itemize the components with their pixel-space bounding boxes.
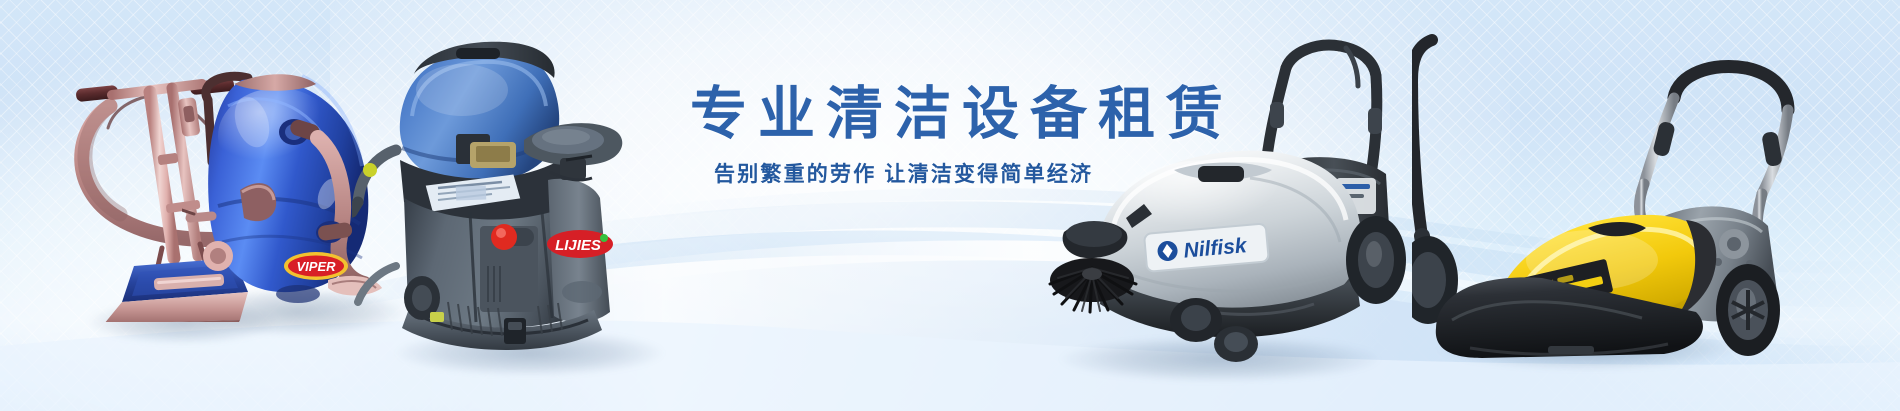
lijies-logo-icon: LIJIES <box>547 230 613 258</box>
banner-subheadline: 告别繁重的劳作 让清洁变得简单经济 <box>714 164 1250 185</box>
product-lijies-scrubber: LIJIES <box>352 30 662 360</box>
lijies-scrubber-illustration: LIJIES <box>352 30 662 360</box>
wide-area-vacuum-illustration <box>1412 28 1812 358</box>
banner-headline: 专业清洁设备租赁 <box>690 86 1250 143</box>
promotional-banner: VIPER <box>0 0 1900 411</box>
product-nilfisk-sweeper: Nilfisk <box>1040 28 1420 366</box>
product-wide-area-vacuum <box>1412 28 1812 358</box>
nilfisk-sweeper-illustration: Nilfisk <box>1040 28 1420 366</box>
banner-copy: 专业清洁设备租赁 告别繁重的劳作 让清洁变得简单经济 <box>690 86 1250 185</box>
lijies-logo-text: LIJIES <box>555 237 601 254</box>
viper-logo-text: VIPER <box>296 259 336 274</box>
viper-logo-icon: VIPER <box>284 252 348 280</box>
side-brush-icon <box>1050 258 1136 312</box>
